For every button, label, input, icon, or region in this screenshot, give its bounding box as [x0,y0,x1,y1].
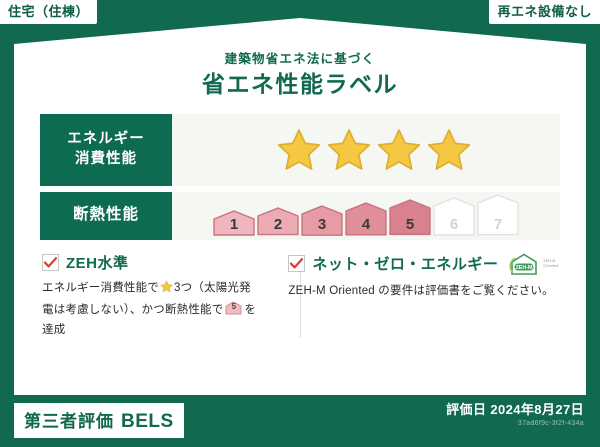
inline-level-badge-icon: 5 [225,301,242,315]
insulation-level-value: 7 [477,217,519,232]
net-zero-description: ZEH-M Oriented の要件は評価書をご覧ください。 [288,281,558,301]
evaluation-code: 37ad6f9c-3f2f-434a [446,420,584,427]
insulation-level-badge: 6 [433,197,475,236]
energy-label-line1: エネルギー [67,130,145,150]
energy-label-line2: 消費性能 [75,150,137,170]
insulation-level-value: 1 [213,217,255,232]
energy-performance-value [172,114,560,186]
label-subtitle: 建築物省エネ法に基づく [32,52,568,67]
evaluation-info: 評価日 2024年8月27日 37ad6f9c-3f2f-434a [446,402,584,427]
inline-level-value: 5 [225,301,242,315]
insulation-level-value: 4 [345,217,387,232]
insulation-level-value: 2 [257,217,299,232]
zeh-standard-block: ZEH水準 エネルギー消費性能で3つ（太陽光発電は考慮しない）、かつ断熱性能で5… [42,252,264,340]
building-type-tag: 住宅（住棟） [0,0,97,24]
renewable-equipment-tag: 再エネ設備なし [489,0,600,24]
insulation-level-badge: 1 [213,210,255,236]
bottom-columns: ZEH水準 エネルギー消費性能で3つ（太陽光発電は考慮しない）、かつ断熱性能で5… [32,252,568,340]
star-rating [260,127,472,173]
insulation-level-value: 3 [301,217,343,232]
zeh-m-caption-line1: ZEH-M [543,259,555,263]
insulation-label-text: 断熱性能 [73,205,139,226]
title-block: 建築物省エネ法に基づく 省エネ性能ラベル [32,52,568,100]
net-zero-title: ネット・ゼロ・エネルギー [312,253,498,274]
bels-jp-text: 第三者評価 [24,407,114,432]
page-title: 省エネ性能ラベル [32,70,568,100]
insulation-performance-value: 1234567 [172,192,560,240]
bels-badge: 第三者評価 BELS [14,403,184,438]
insulation-level-badge: 5 [389,199,431,235]
bels-en-text: BELS [121,411,174,433]
energy-performance-label: エネルギー 消費性能 [40,114,172,186]
star-filled-icon [276,127,322,173]
insulation-level-badge: 2 [257,207,299,236]
zeh-heading: ZEH水準 [42,252,258,273]
svg-text:ZEH-M: ZEH-M [516,265,534,271]
zeh-description: エネルギー消費性能で3つ（太陽光発電は考慮しない）、かつ断熱性能で5を達成 [42,278,258,340]
star-filled-icon [426,127,472,173]
star-filled-icon [326,127,372,173]
insulation-performance-row: 断熱性能 1234567 [40,192,560,240]
zeh-m-logo: ZEH-M ZEH-M Oriented [507,252,558,276]
insulation-level-value: 5 [389,217,431,232]
zeh-text-part1: エネルギー消費性能で [42,282,159,294]
insulation-level-value: 6 [433,217,475,232]
zeh-m-caption-line2: Oriented [543,264,558,268]
zeh-m-logo-caption: ZEH-M Oriented [543,259,558,268]
label-inner: 建築物省エネ法に基づく 省エネ性能ラベル エネルギー 消費性能 断熱性能 [14,18,586,395]
zeh-title: ZEH水準 [66,252,129,273]
insulation-level-scale: 1234567 [209,194,523,238]
insulation-performance-label: 断熱性能 [40,192,172,240]
energy-performance-row: エネルギー 消費性能 [40,114,560,186]
net-zero-heading: ネット・ゼロ・エネルギー ZEH-M ZEH-M Oriented [288,252,558,276]
inline-star-icon [160,284,173,296]
insulation-level-badge: 7 [477,194,519,236]
insulation-level-badge: 3 [301,205,343,236]
label-card: 建築物省エネ法に基づく 省エネ性能ラベル エネルギー 消費性能 断熱性能 [14,18,586,395]
evaluation-date-value: 2024年8月27日 [490,402,584,417]
evaluation-date-label: 評価日 [446,402,486,417]
evaluation-date: 評価日 2024年8月27日 [446,402,584,418]
insulation-level-badge: 4 [345,202,387,236]
checkbox-checked-icon [288,255,305,272]
checkbox-checked-icon [42,254,59,271]
net-zero-energy-block: ネット・ゼロ・エネルギー ZEH-M ZEH-M Oriented [274,252,558,340]
energy-label-root: 住宅（住棟） 再エネ設備なし 建築物省エネ法に基づく 省エネ性能ラベル エネルギ… [0,0,600,447]
performance-rows: エネルギー 消費性能 断熱性能 1234567 [32,114,568,240]
label-footer: 第三者評価 BELS 評価日 2024年8月27日 37ad6f9c-3f2f-… [0,395,600,447]
star-filled-icon [376,127,422,173]
